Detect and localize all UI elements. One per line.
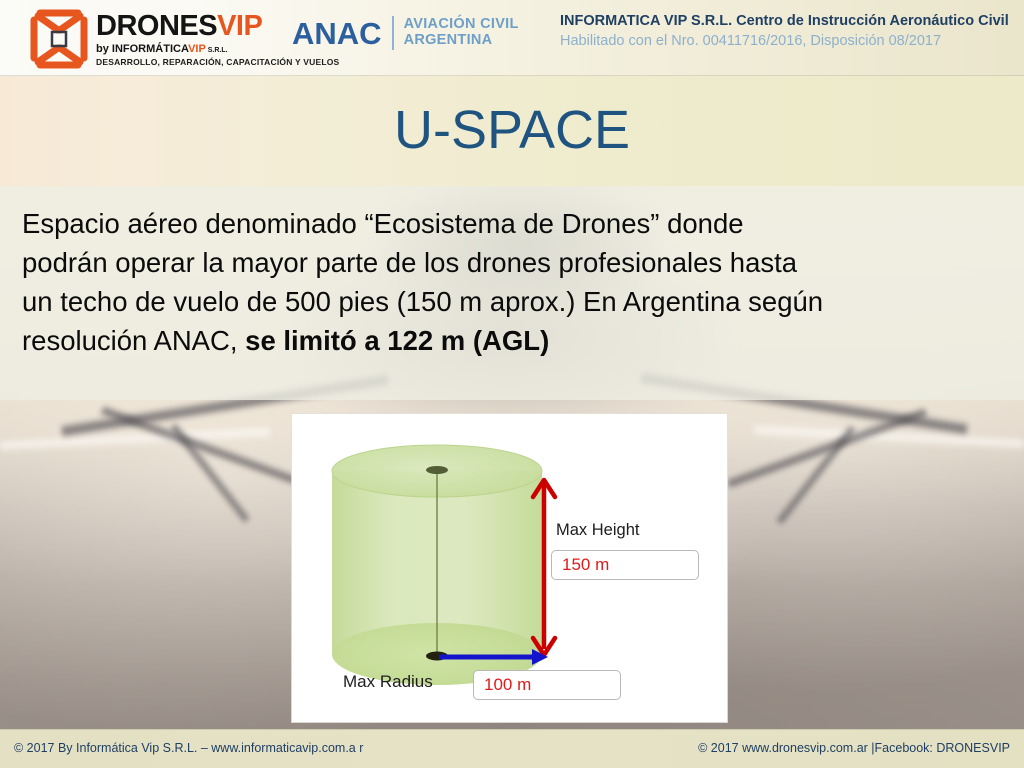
max-height-value-field[interactable]: 150 m bbox=[551, 550, 699, 580]
header-bar: DRONESVIP by INFORMÁTICAVIP S.R.L. DESAR… bbox=[0, 0, 1024, 76]
body-line-4-bold: se limitó a 122 m (AGL) bbox=[245, 325, 549, 356]
body-line-3: un techo de vuelo de 500 pies (150 m apr… bbox=[22, 282, 1002, 321]
brand-name-main: DRONES bbox=[96, 10, 217, 42]
brand-subline-vip: VIP bbox=[188, 43, 206, 55]
footer-copyright-left: © 2017 By Informática Vip S.R.L. – www.i… bbox=[14, 741, 363, 755]
org-license: Habilitado con el Nro. 00411716/2016, Di… bbox=[560, 32, 1009, 52]
anac-subtitle-line1: AVIACIÓN CIVIL bbox=[404, 17, 519, 33]
anac-subtitle-line2: ARGENTINA bbox=[404, 33, 519, 49]
anac-subtitle: AVIACIÓN CIVIL ARGENTINA bbox=[404, 17, 519, 48]
brand-subline-by: by INFORMÁTICA bbox=[96, 43, 188, 55]
body-paragraph: Espacio aéreo denominado “Ecosistema de … bbox=[22, 204, 1002, 360]
anac-logo: ANAC AVIACIÓN CIVIL ARGENTINA bbox=[292, 16, 519, 50]
brand-tagline: DESARROLLO, REPARACIÓN, CAPACITACIÓN Y V… bbox=[96, 58, 339, 67]
footer-copyright-right: © 2017 www.dronesvip.com.ar |Facebook: D… bbox=[698, 741, 1010, 755]
axis-top-node bbox=[426, 466, 448, 474]
anac-acronym: ANAC bbox=[292, 18, 382, 49]
anac-divider bbox=[392, 16, 394, 50]
dronesvip-logo-icon bbox=[28, 8, 90, 70]
max-radius-value-field[interactable]: 100 m bbox=[473, 670, 621, 700]
page-title: U-SPACE bbox=[0, 99, 1024, 161]
organization-credentials: INFORMATICA VIP S.R.L. Centro de Instruc… bbox=[560, 12, 1009, 51]
max-height-label: Max Height bbox=[556, 521, 639, 540]
body-line-4-normal: resolución ANAC, bbox=[22, 325, 245, 356]
footer-bar: © 2017 By Informática Vip S.R.L. – www.i… bbox=[0, 729, 1024, 768]
org-name: INFORMATICA VIP S.R.L. Centro de Instruc… bbox=[560, 12, 1009, 32]
body-line-4: resolución ANAC, se limitó a 122 m (AGL) bbox=[22, 321, 1002, 360]
slide-canvas: DRONESVIP by INFORMÁTICAVIP S.R.L. DESAR… bbox=[0, 0, 1024, 768]
brand-subline-srl: S.R.L. bbox=[206, 47, 228, 54]
body-text-panel: Espacio aéreo denominado “Ecosistema de … bbox=[0, 186, 1024, 400]
body-line-1: Espacio aéreo denominado “Ecosistema de … bbox=[22, 204, 1002, 243]
max-radius-label: Max Radius bbox=[343, 672, 433, 692]
brand-name-accent: VIP bbox=[217, 10, 262, 42]
body-line-2: podrán operar la mayor parte de los dron… bbox=[22, 243, 1002, 282]
